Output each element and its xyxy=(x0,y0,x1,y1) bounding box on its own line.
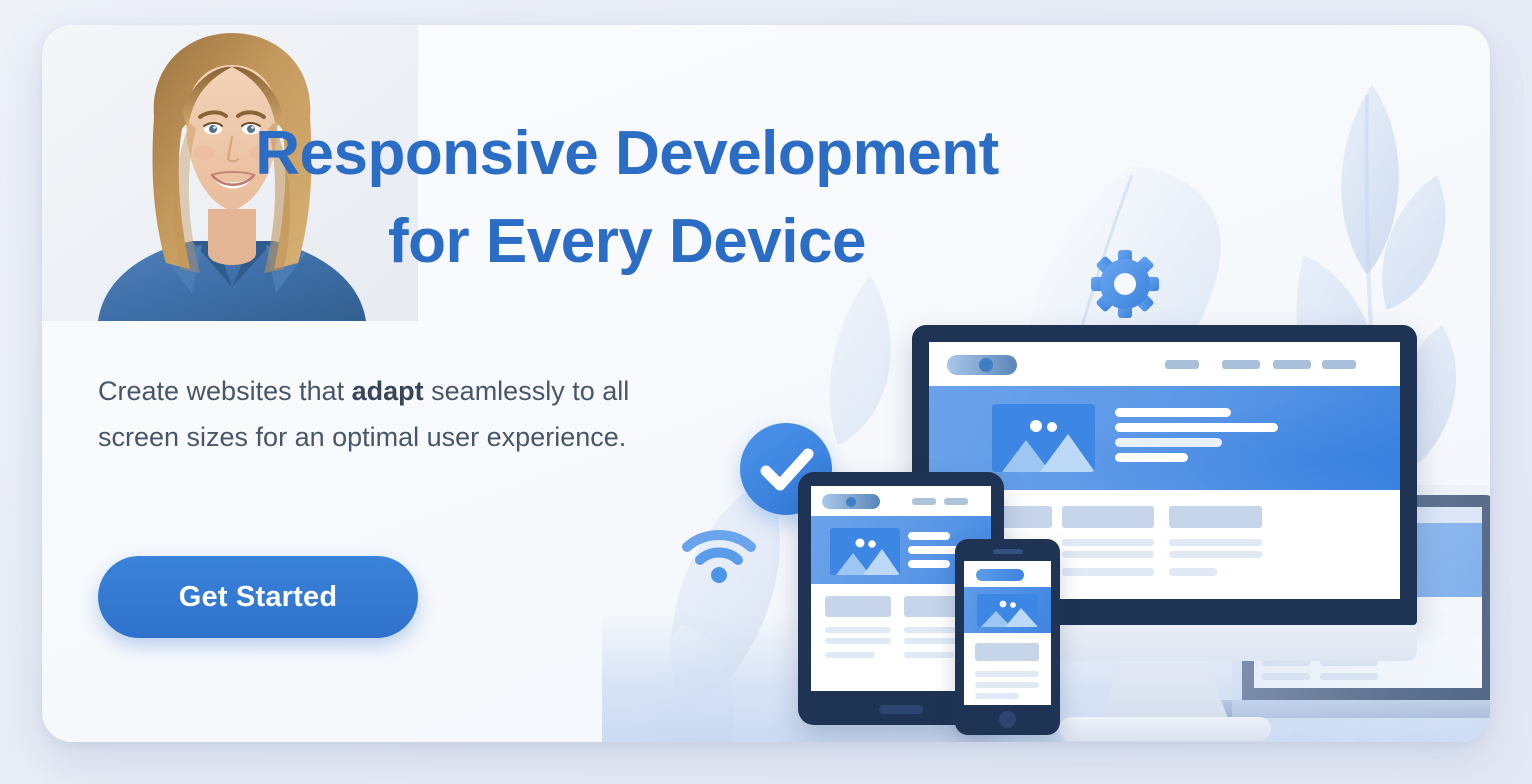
monitor-stand-base xyxy=(1059,717,1271,741)
subtitle-part-1: Create websites that xyxy=(98,376,352,406)
device-illustration xyxy=(602,25,1490,742)
phone-speaker xyxy=(993,549,1023,554)
image-placeholder-icon xyxy=(992,404,1095,472)
subtitle-emphasis: adapt xyxy=(352,376,424,406)
monitor-stand-neck xyxy=(1101,661,1229,721)
laptop-deck xyxy=(1220,700,1490,718)
subtitle-text: Create websites that adapt seamlessly to… xyxy=(98,368,688,460)
phone-device xyxy=(955,539,1060,735)
get-started-button[interactable]: Get Started xyxy=(98,556,418,638)
gear-icon xyxy=(1089,248,1161,320)
phone-home-button xyxy=(999,711,1016,728)
wireframe-logo-dot xyxy=(979,358,993,372)
wifi-icon xyxy=(680,525,758,585)
tablet-home-button xyxy=(879,705,923,714)
phone-screen xyxy=(964,561,1051,705)
banner-card: Responsive Development for Every Device … xyxy=(42,25,1490,742)
